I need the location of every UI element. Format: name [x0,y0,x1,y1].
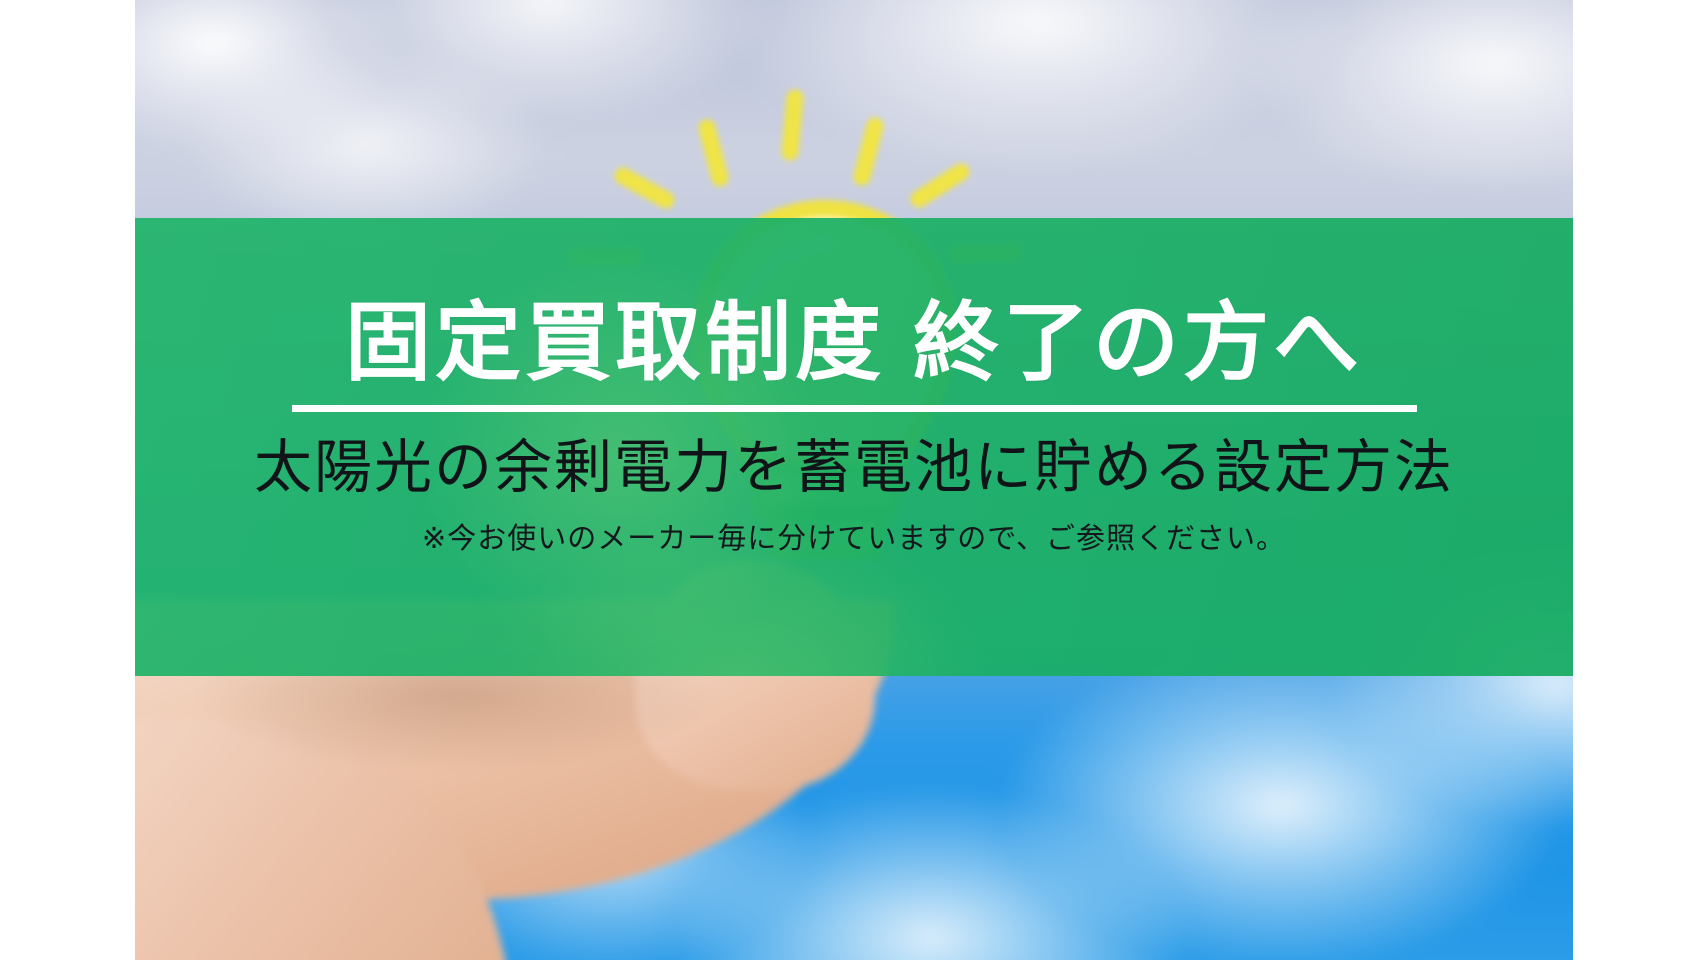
page-canvas: 固定買取制度 終了の方へ 太陽光の余剰電力を蓄電池に貯める設定方法 ※今お使いの… [0,0,1707,960]
banner-subheadline: 太陽光の余剰電力を蓄電池に貯める設定方法 [254,436,1454,500]
banner-note: ※今お使いのメーカー毎に分けていますので、ご参照ください。 [422,522,1286,557]
green-text-band: 固定買取制度 終了の方へ 太陽光の余剰電力を蓄電池に貯める設定方法 ※今お使いの… [135,218,1573,676]
hero-banner-image: 固定買取制度 終了の方へ 太陽光の余剰電力を蓄電池に貯める設定方法 ※今お使いの… [135,0,1573,960]
banner-headline: 固定買取制度 終了の方へ [345,298,1363,389]
banner-text-block: 固定買取制度 終了の方へ 太陽光の余剰電力を蓄電池に貯める設定方法 ※今お使いの… [135,218,1573,676]
headline-underline [292,405,1417,412]
